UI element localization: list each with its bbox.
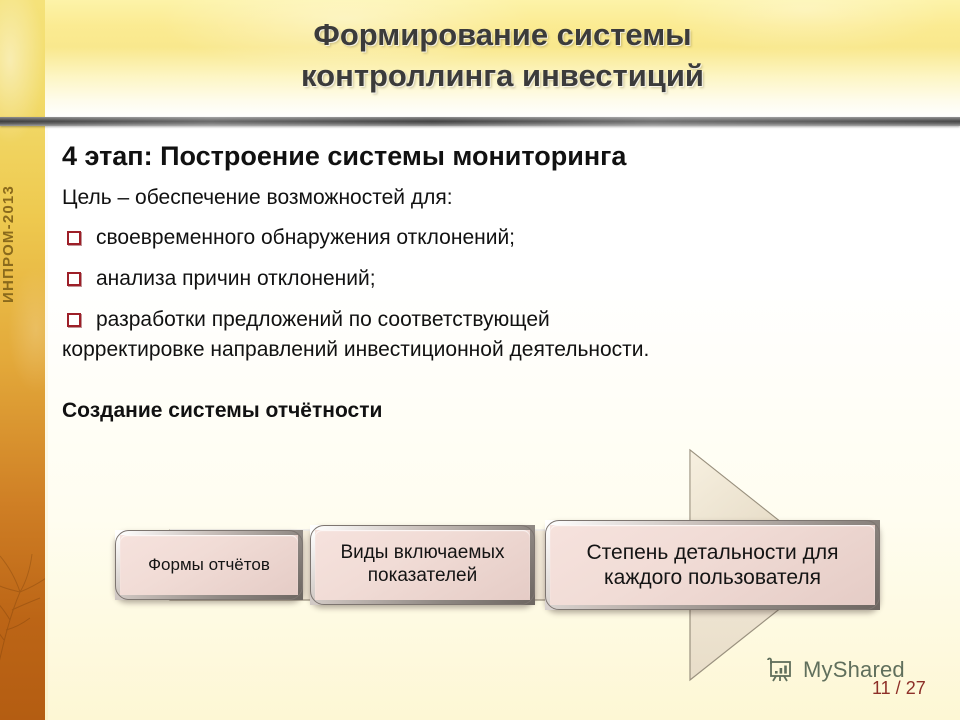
list-item: анализа причин отклонений;	[62, 265, 942, 293]
list-item-continuation: корректировке направлений инвестиционной…	[62, 336, 942, 364]
bullet-list: своевременного обнаружения отклонений; а…	[62, 224, 942, 363]
presentation-chart-icon	[765, 655, 795, 685]
brand-label: ИНПРОМ-2013	[0, 185, 45, 303]
title-banner: Формирование системы контроллинга инвест…	[45, 0, 960, 118]
list-item: своевременного обнаружения отклонений;	[62, 224, 942, 252]
slide-body: 4 этап: Построение системы мониторинга Ц…	[62, 140, 942, 423]
page-number: 11 / 27	[872, 678, 926, 699]
list-item-label: разработки предложений по соответствующе…	[96, 308, 550, 331]
square-bullet-icon	[67, 313, 81, 327]
slide-title: Формирование системы контроллинга инвест…	[45, 14, 960, 96]
list-item-label: анализа причин отклонений;	[96, 267, 376, 290]
flow-box-included-indicators: Виды включаемых показателей	[310, 525, 535, 605]
stage-heading: 4 этап: Построение системы мониторинга	[62, 140, 942, 172]
flow-box-label: Виды включаемых показателей	[332, 542, 512, 588]
square-bullet-icon	[67, 272, 81, 286]
branch-decoration-icon	[0, 510, 45, 690]
flow-box-label: Степень детальности для каждого пользова…	[579, 540, 847, 590]
stage-title: Построение системы мониторинга	[153, 141, 627, 171]
divider-bar	[0, 117, 960, 126]
stage-number: 4 этап:	[62, 141, 153, 171]
square-bullet-icon	[67, 231, 81, 245]
flow-box-label: Формы отчётов	[140, 555, 278, 575]
list-item-label: своевременного обнаружения отклонений;	[96, 226, 515, 249]
sidebar-sheen	[0, 0, 45, 720]
divider-gloss	[0, 117, 960, 126]
list-item: разработки предложений по соответствующе…	[62, 306, 942, 363]
slide: ИНПРОМ-2013 Формирование системы контрол…	[0, 0, 960, 720]
section-heading: Создание системы отчётности	[62, 399, 942, 423]
goal-line: Цель – обеспечение возможностей для:	[62, 186, 942, 210]
flow-box-detail-level: Степень детальности для каждого пользова…	[545, 520, 880, 610]
flow-box-report-forms: Формы отчётов	[115, 530, 303, 600]
brand-sidebar: ИНПРОМ-2013	[0, 0, 45, 720]
